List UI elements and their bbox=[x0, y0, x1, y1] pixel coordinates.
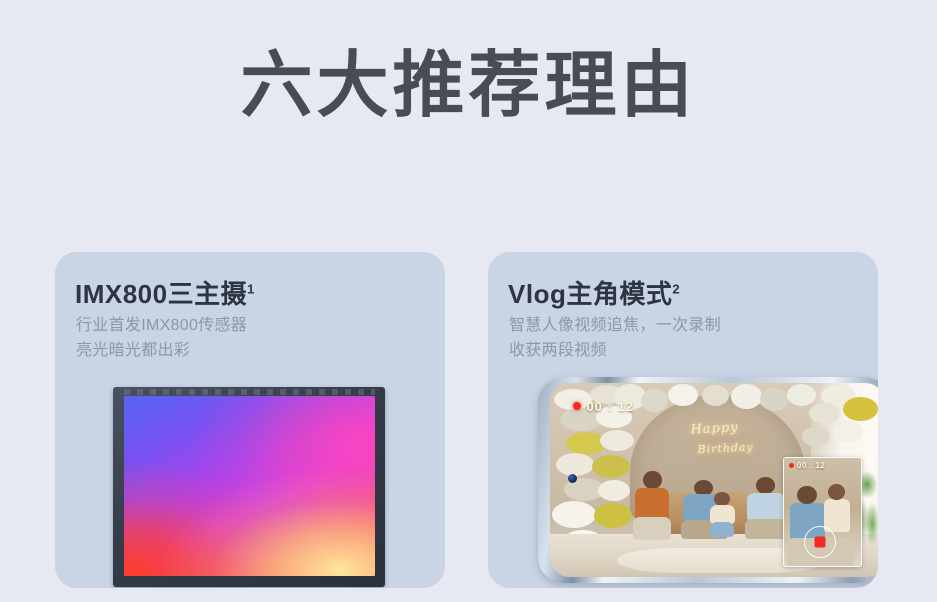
person-toddler-center bbox=[707, 496, 737, 539]
feature-cards-row: IMX800三主摄1 行业首发IMX800传感器 亮光暗光都出彩 Vlog主角模… bbox=[0, 252, 937, 602]
recording-timer: 00 : 12 bbox=[586, 399, 633, 414]
pip-record-dot-icon bbox=[789, 463, 794, 468]
card-title-vlog: Vlog主角模式2 bbox=[508, 274, 680, 311]
recording-indicator: 00 : 12 bbox=[573, 399, 633, 414]
neon-sign-line-2: Birthday bbox=[697, 438, 754, 460]
pip-recording-timer: 00 : 12 bbox=[797, 461, 825, 470]
phone-frame: Happy Birthday bbox=[538, 377, 878, 583]
card-title-text: Vlog主角模式 bbox=[508, 279, 672, 309]
sensor-contact-strip bbox=[124, 389, 375, 395]
image-sensor-photo bbox=[113, 387, 385, 587]
picture-in-picture-inset[interactable]: 00 : 12 bbox=[783, 457, 862, 568]
phone-video-preview: Happy Birthday bbox=[538, 377, 878, 583]
feature-card-imx800[interactable]: IMX800三主摄1 行业首发IMX800传感器 亮光暗光都出彩 bbox=[55, 252, 445, 588]
phone-screen: Happy Birthday bbox=[550, 383, 878, 577]
page-title: 六大推荐理由 bbox=[0, 48, 937, 126]
person-man-right bbox=[744, 478, 788, 538]
card-subtitle-line-1: 智慧人像视频追焦，一次录制 bbox=[509, 314, 721, 339]
focus-tracking-ring-icon bbox=[804, 526, 836, 558]
feature-card-vlog[interactable]: Vlog主角模式2 智慧人像视频追焦，一次录制 收获两段视频 Happy Bir… bbox=[488, 252, 878, 588]
sensor-bezel bbox=[113, 387, 385, 587]
record-dot-icon bbox=[573, 402, 581, 410]
person-woman-left bbox=[630, 472, 674, 538]
card-subtitle-line-2: 收获两段视频 bbox=[509, 339, 721, 364]
record-stop-button[interactable] bbox=[814, 536, 825, 547]
sensor-color-gradient-surface bbox=[124, 396, 375, 576]
card-title-text: IMX800三主摄 bbox=[75, 279, 247, 309]
card-subtitle-line-1: 行业首发IMX800传感器 bbox=[76, 314, 247, 339]
card-subtitle-line-2: 亮光暗光都出彩 bbox=[76, 339, 247, 364]
card-subtitle-imx800: 行业首发IMX800传感器 亮光暗光都出彩 bbox=[76, 314, 247, 364]
card-title-footnote-marker: 2 bbox=[672, 281, 680, 296]
card-subtitle-vlog: 智慧人像视频追焦，一次录制 收获两段视频 bbox=[509, 314, 721, 364]
card-title-imx800: IMX800三主摄1 bbox=[75, 274, 255, 311]
pip-recording-indicator: 00 : 12 bbox=[789, 461, 825, 470]
balloon-cluster-top bbox=[610, 383, 818, 441]
card-title-footnote-marker: 1 bbox=[247, 281, 255, 296]
